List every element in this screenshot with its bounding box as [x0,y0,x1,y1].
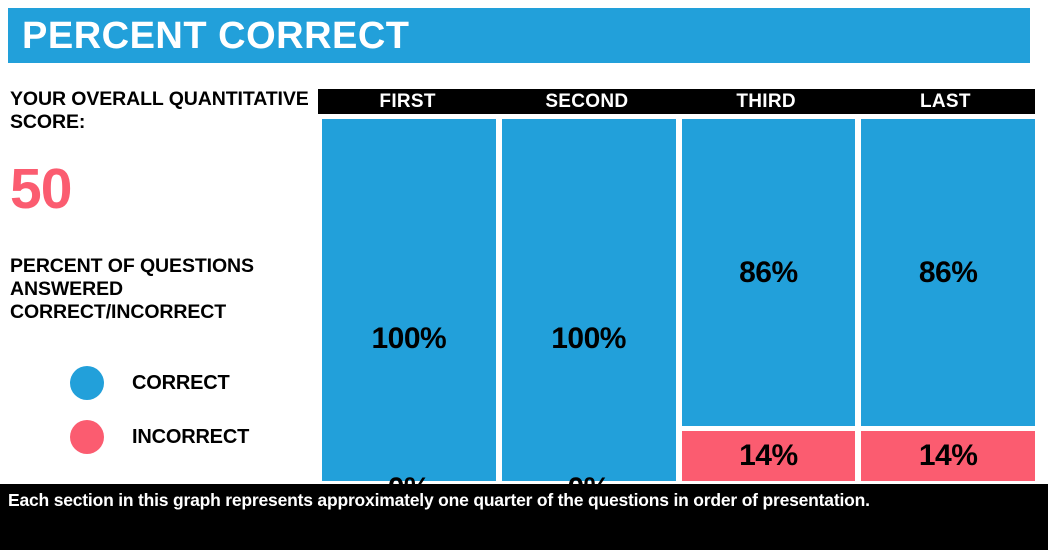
legend-item-incorrect: INCORRECT [70,410,310,464]
page-title-banner: PERCENT CORRECT [8,8,1030,63]
column-header-second: SECOND [497,89,676,114]
legend-label-incorrect: INCORRECT [132,426,249,449]
percent-questions-label: PERCENT OF QUESTIONS ANSWERED CORRECT/IN… [10,255,320,324]
bar-segment-incorrect-third: 14% [682,431,856,481]
bar-value-correct-third: 86% [682,258,856,288]
legend-circle-icon-incorrect [70,420,104,454]
bar-value-correct-second: 100% [502,324,676,354]
bar-column-third: 86% 14% [682,119,856,481]
bar-value-correct-last: 86% [861,258,1035,288]
percent-correct-bar-chart: FIRST SECOND THIRD LAST 100% 0% 100% 0% … [318,89,1035,481]
left-info-panel: YOUR OVERALL QUANTITATIVE SCORE: 50 PERC… [10,88,310,480]
overall-score-value: 50 [10,161,71,218]
bar-segment-correct-third: 86% [682,119,856,426]
bar-value-incorrect-third: 14% [739,441,798,471]
bar-segment-correct-first: 100% 0% [322,119,496,481]
column-header-last: LAST [856,89,1035,114]
chart-footnote-text: Each section in this graph represents ap… [8,489,1040,512]
legend-label-correct: CORRECT [132,372,230,395]
bar-value-incorrect-last: 14% [919,441,978,471]
legend-item-correct: CORRECT [70,356,310,410]
overall-score-label: YOUR OVERALL QUANTITATIVE SCORE: [10,88,310,134]
bar-column-first: 100% 0% [322,119,496,481]
page-title: PERCENT CORRECT [22,17,410,55]
bar-column-last: 86% 14% [861,119,1035,481]
chart-footnote-bar: Each section in this graph represents ap… [0,484,1048,550]
chart-legend: CORRECT INCORRECT [70,356,310,464]
bar-segment-correct-last: 86% [861,119,1035,426]
chart-bars: 100% 0% 100% 0% 86% 14% 86% [322,119,1035,481]
bar-segment-correct-second: 100% 0% [502,119,676,481]
chart-column-headers: FIRST SECOND THIRD LAST [318,89,1035,114]
bar-segment-incorrect-last: 14% [861,431,1035,481]
column-header-third: THIRD [677,89,856,114]
legend-circle-icon-correct [70,366,104,400]
column-header-first: FIRST [318,89,497,114]
bar-column-second: 100% 0% [502,119,676,481]
bar-value-correct-first: 100% [322,324,496,354]
